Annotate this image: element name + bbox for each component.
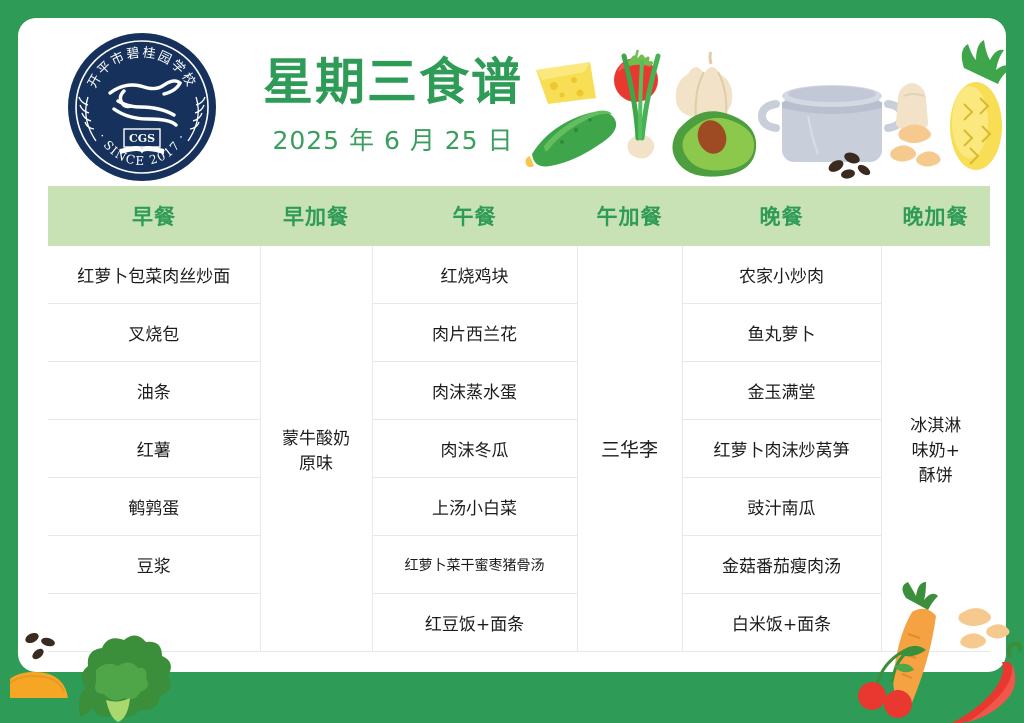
dinner-item: 金菇番茄瘦肉汤 <box>682 536 881 594</box>
column-header-dinner: 晚餐 <box>682 186 881 246</box>
breakfast-item: 鹌鹑蛋 <box>48 478 260 536</box>
evening-snack-line: 冰淇淋 <box>883 411 990 436</box>
column-header-afternoon-snack: 午加餐 <box>577 186 682 246</box>
lunch-item: 红萝卜菜干蜜枣猪骨汤 <box>372 536 577 594</box>
evening-snack-line: 酥饼 <box>883 461 990 486</box>
afternoon-snack-cell: 三华李 <box>577 246 682 652</box>
breakfast-item: 油条 <box>48 362 260 420</box>
column-header-morning-snack: 早加餐 <box>260 186 372 246</box>
lunch-item: 肉片西兰花 <box>372 304 577 362</box>
pot-icon <box>762 85 902 162</box>
table-row: 鹌鹑蛋 上汤小白菜 豉汁南瓜 <box>48 478 990 536</box>
title-block: 星期三食谱 2025 年 6 月 25 日 <box>248 56 538 157</box>
green-onion-icon <box>624 56 658 159</box>
cucumber-icon <box>526 111 617 168</box>
menu-table: 早餐 早加餐 午餐 午加餐 晚餐 晚加餐 红萝卜包菜肉丝炒面 蒙牛酸奶 原味 <box>48 186 990 652</box>
lunch-item: 红烧鸡块 <box>372 246 577 304</box>
cashew-icon <box>890 124 940 166</box>
poster-background: 开平市碧桂园学校 <box>0 0 1024 723</box>
dinner-item: 金玉满堂 <box>682 362 881 420</box>
cheese-icon <box>536 62 596 104</box>
column-header-lunch: 午餐 <box>372 186 577 246</box>
menu-panel: 开平市碧桂园学校 <box>18 18 1006 672</box>
dinner-item: 红萝卜肉沫炒莴笋 <box>682 420 881 478</box>
morning-snack-line: 原味 <box>262 449 371 474</box>
table-row: 红薯 肉沫冬瓜 红萝卜肉沫炒莴笋 <box>48 420 990 478</box>
table-header-row: 早餐 早加餐 午餐 午加餐 晚餐 晚加餐 <box>48 186 990 246</box>
table-row: 油条 肉沫蒸水蛋 金玉满堂 <box>48 362 990 420</box>
dinner-item: 农家小炒肉 <box>682 246 881 304</box>
breakfast-item: 红薯 <box>48 420 260 478</box>
morning-snack-cell: 蒙牛酸奶 原味 <box>260 246 372 652</box>
dinner-item: 白米饭+面条 <box>682 594 881 652</box>
orange-half-icon <box>10 672 68 698</box>
pineapple-icon <box>950 40 1006 170</box>
breakfast-item: 红萝卜包菜肉丝炒面 <box>48 246 260 304</box>
page-title: 星期三食谱 <box>248 56 538 109</box>
garlic-icon <box>676 52 733 118</box>
menu-date: 2025 年 6 月 25 日 <box>248 121 538 157</box>
lunch-item: 肉沫蒸水蛋 <box>372 362 577 420</box>
lunch-item: 上汤小白菜 <box>372 478 577 536</box>
table-row: 红豆饭+面条 白米饭+面条 <box>48 594 990 652</box>
column-header-breakfast: 早餐 <box>48 186 260 246</box>
table-row: 豆浆 红萝卜菜干蜜枣猪骨汤 金菇番茄瘦肉汤 <box>48 536 990 594</box>
breakfast-item: 叉烧包 <box>48 304 260 362</box>
dinner-item: 鱼丸萝卜 <box>682 304 881 362</box>
evening-snack-line: 味奶+ <box>883 436 990 461</box>
food-illustrations <box>518 38 1006 188</box>
breakfast-item <box>48 594 260 652</box>
column-header-evening-snack: 晚加餐 <box>881 186 990 246</box>
avocado-icon <box>672 111 756 176</box>
dinner-item: 豉汁南瓜 <box>682 478 881 536</box>
svg-text:CGS: CGS <box>129 132 155 145</box>
evening-snack-cell: 冰淇淋 味奶+ 酥饼 <box>881 246 990 652</box>
breakfast-item: 豆浆 <box>48 536 260 594</box>
lunch-item: 红豆饭+面条 <box>372 594 577 652</box>
morning-snack-line: 蒙牛酸奶 <box>262 424 371 449</box>
table-row: 叉烧包 肉片西兰花 鱼丸萝卜 <box>48 304 990 362</box>
table-row: 红萝卜包菜肉丝炒面 蒙牛酸奶 原味 红烧鸡块 三华李 农家小炒肉 冰淇淋 味奶+ <box>48 246 990 304</box>
salt-shaker-icon <box>896 83 928 130</box>
poster-header: 开平市碧桂园学校 <box>18 18 1006 186</box>
school-logo: 开平市碧桂园学校 <box>66 31 218 183</box>
lunch-item: 肉沫冬瓜 <box>372 420 577 478</box>
